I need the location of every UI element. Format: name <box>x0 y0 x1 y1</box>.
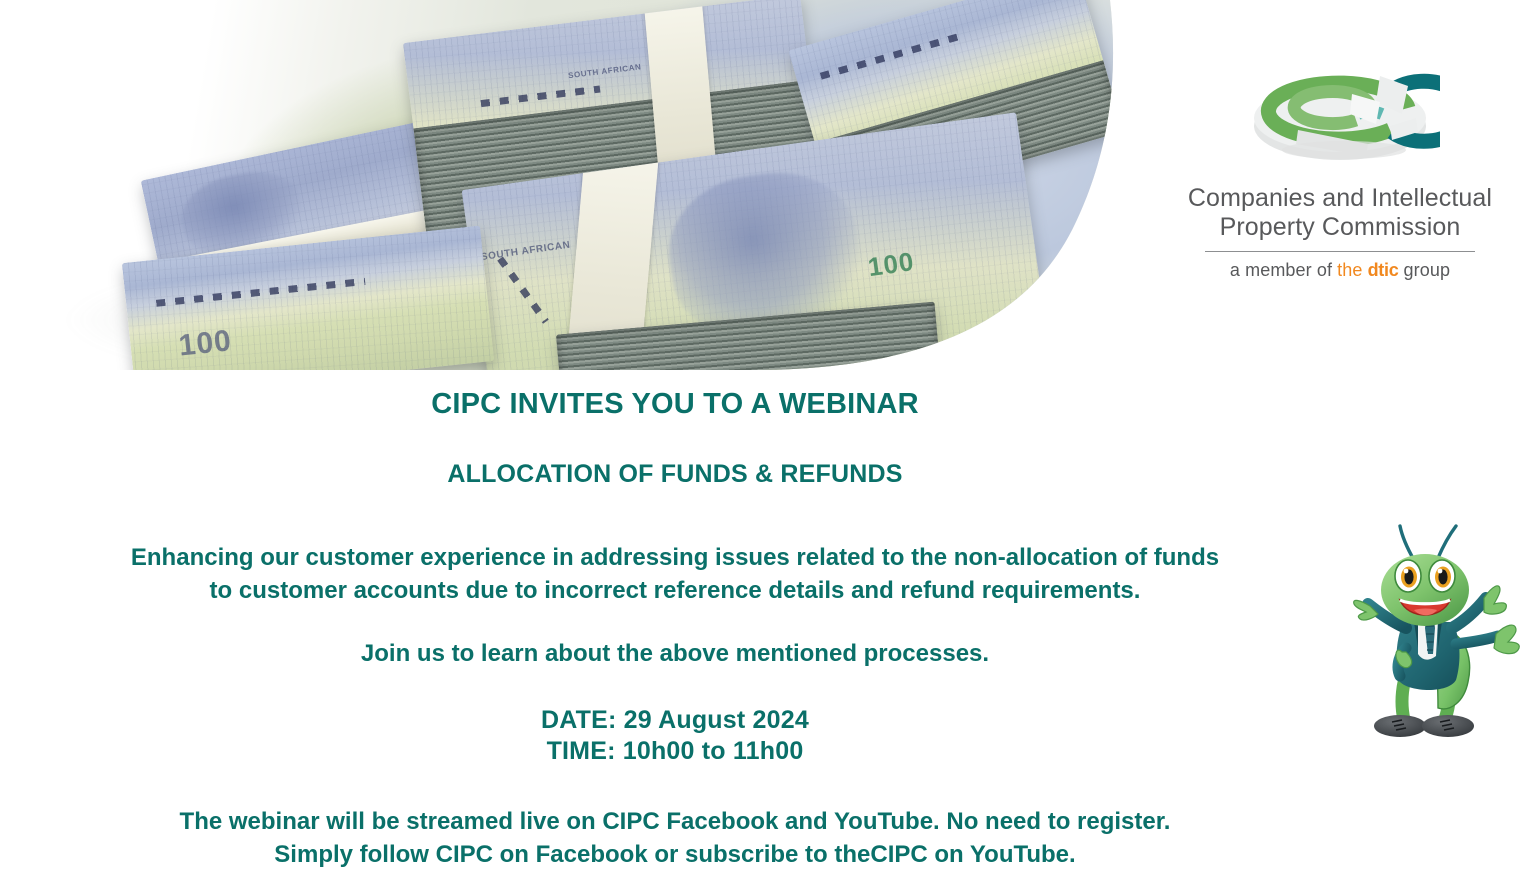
logo-name-line-1: Companies and Intellectual <box>1160 184 1520 213</box>
mascot-eye-highlight-left <box>1404 569 1409 574</box>
logo-member-suffix: group <box>1404 260 1451 280</box>
mascot-arm-lower-right <box>1456 636 1498 644</box>
logo-member-dtic: dtic <box>1368 260 1399 280</box>
event-date: DATE: 29 August 2024 <box>541 706 809 734</box>
event-time: TIME: 10h00 to 11h00 <box>547 737 804 765</box>
logo-member-prefix: a member of <box>1230 260 1332 280</box>
mascot-shoe-right <box>1422 715 1474 737</box>
logo-divider <box>1205 251 1475 252</box>
banknote-denomination-small: 100 <box>866 246 916 283</box>
streaming-info: The webinar will be streamed live on CIP… <box>0 805 1350 871</box>
logo-member-the: the <box>1337 260 1362 280</box>
mascot-hand-lower-right <box>1494 625 1519 654</box>
cipc-logo-block: Companies and Intellectual Property Comm… <box>1160 52 1520 281</box>
logo-name-line-2: Property Commission <box>1160 213 1520 242</box>
logo-organisation-name: Companies and Intellectual Property Comm… <box>1160 184 1520 242</box>
streaming-line-1: The webinar will be streamed live on CIP… <box>180 808 1171 835</box>
invitation-content: CIPC INVITES YOU TO A WEBINAR ALLOCATION… <box>0 388 1350 871</box>
banknote-denomination: 100 <box>177 324 233 363</box>
join-invitation-line: Join us to learn about the above mention… <box>0 640 1350 668</box>
banner-clip-shape: 100 SOUTH AFRICAN SOUTH AFRICAN 100 100 <box>0 0 1270 372</box>
cipc-grasshopper-mascot-icon <box>1352 516 1530 748</box>
logo-member-line: a member of the dtic group <box>1160 260 1520 281</box>
cipc-swirl-logo-icon <box>1240 52 1440 172</box>
mascot-shoe-left <box>1374 715 1426 737</box>
description-line-1: Enhancing our customer experience in add… <box>131 544 1219 571</box>
mascot-eye-highlight-right <box>1438 569 1443 574</box>
description-paragraph: Enhancing our customer experience in add… <box>0 541 1350 607</box>
event-schedule: DATE: 29 August 2024 TIME: 10h00 to 11h0… <box>0 705 1350 767</box>
description-line-2: to customer accounts due to incorrect re… <box>210 577 1141 604</box>
page-title: CIPC INVITES YOU TO A WEBINAR <box>0 388 1350 421</box>
hero-banner: 100 SOUTH AFRICAN SOUTH AFRICAN 100 100 <box>0 0 1270 372</box>
mascot-hand-upper-right <box>1484 586 1506 614</box>
page-subtitle: ALLOCATION OF FUNDS & REFUNDS <box>0 460 1350 489</box>
